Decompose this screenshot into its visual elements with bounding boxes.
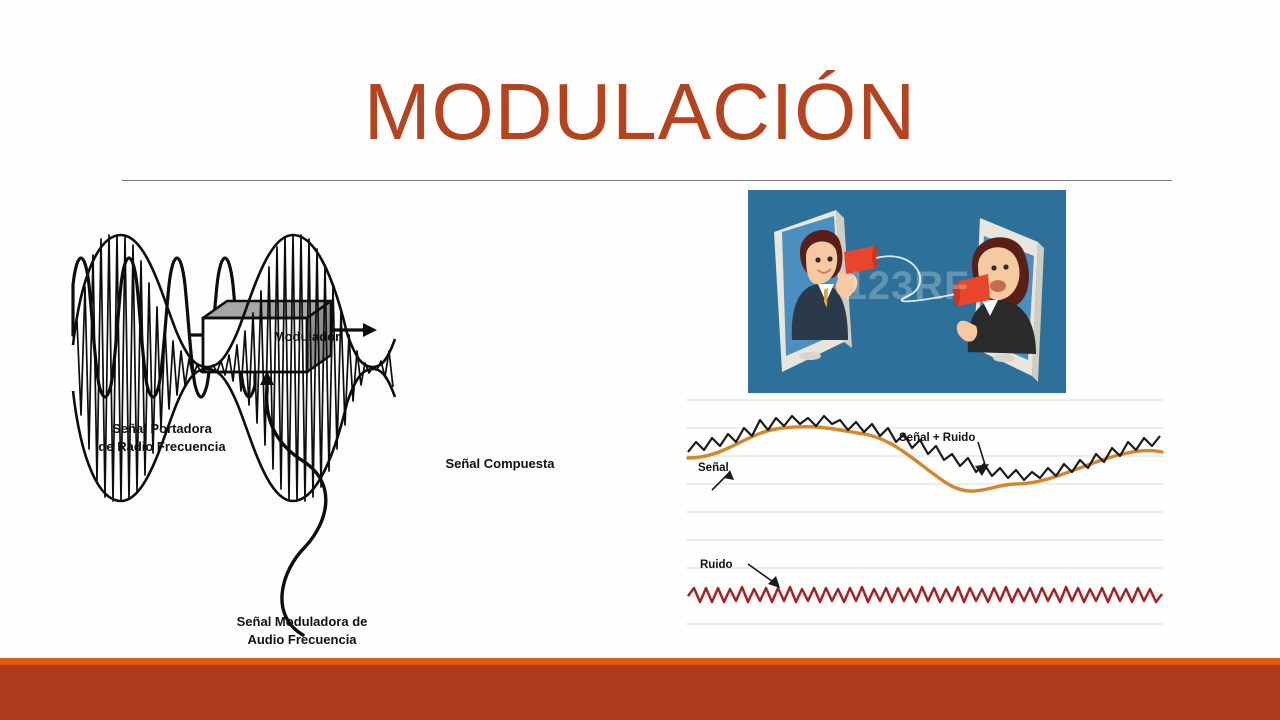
noise-label: Ruido bbox=[700, 559, 733, 571]
title-divider bbox=[122, 180, 1172, 181]
noise-line bbox=[688, 587, 1162, 602]
signal-noise-chart: Señal Señal + Ruido Ruido bbox=[686, 396, 1164, 636]
footer-accent-stripe bbox=[0, 658, 1280, 665]
communication-illustration-svg bbox=[748, 190, 1066, 393]
page-title: MODULACIÓN bbox=[0, 72, 1280, 152]
modulator-box-label: Modulador bbox=[255, 329, 359, 344]
footer-band bbox=[0, 665, 1280, 720]
signal-label: Señal bbox=[698, 462, 729, 474]
communication-illustration: 123RF bbox=[748, 190, 1066, 393]
signal-plus-noise-label: Señal + Ruido bbox=[899, 432, 975, 444]
modulating-wave-graphic bbox=[260, 371, 326, 635]
composite-signal-label: Señal Compuesta bbox=[385, 455, 615, 473]
modulating-signal-label: Señal Moduladora de Audio Frecuencia bbox=[187, 613, 417, 648]
carrier-signal-label: Señal Portadora de Radio Frecuencia bbox=[67, 420, 257, 455]
modulation-block-diagram: Señal Portadora de Radio Frecuencia Seña… bbox=[55, 215, 695, 655]
signal-plus-noise-line bbox=[688, 416, 1160, 480]
